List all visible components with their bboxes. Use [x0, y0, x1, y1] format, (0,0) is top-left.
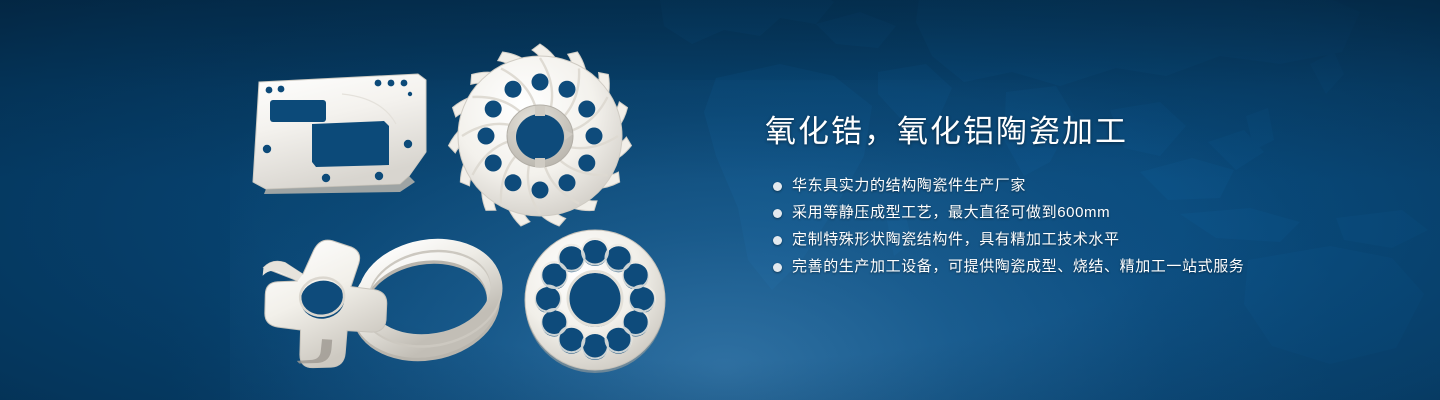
- bullet-dot-icon: [773, 236, 782, 245]
- product-image-ceramic-machined-plate: [250, 72, 435, 197]
- bullet-dot-icon: [773, 182, 782, 191]
- feature-item-label: 完善的生产加工设备，可提供陶瓷成型、烧结、精加工一站式服务: [792, 257, 1244, 277]
- feature-item: 完善的生产加工设备，可提供陶瓷成型、烧结、精加工一站式服务: [765, 257, 1405, 277]
- product-photo-group: [0, 0, 740, 400]
- bullet-dot-icon: [773, 263, 782, 272]
- hero-banner: 氧化锆，氧化铝陶瓷加工 华东具实力的结构陶瓷件生产厂家 采用等静压成型工艺，最大…: [0, 0, 1440, 400]
- feature-item: 采用等静压成型工艺，最大直径可做到600mm: [765, 203, 1405, 223]
- feature-item-label: 采用等静压成型工艺，最大直径可做到600mm: [792, 203, 1110, 223]
- product-image-ceramic-cross-and-rings: [248, 222, 518, 372]
- product-image-ceramic-perforated-disc: [515, 222, 675, 377]
- feature-item-label: 定制特殊形状陶瓷结构件，具有精加工技术水平: [792, 230, 1120, 250]
- banner-copy-block: 氧化锆，氧化铝陶瓷加工 华东具实力的结构陶瓷件生产厂家 采用等静压成型工艺，最大…: [765, 112, 1405, 284]
- feature-item: 定制特殊形状陶瓷结构件，具有精加工技术水平: [765, 230, 1405, 250]
- banner-title: 氧化锆，氧化铝陶瓷加工: [765, 112, 1405, 152]
- bullet-dot-icon: [773, 209, 782, 218]
- feature-item-label: 华东具实力的结构陶瓷件生产厂家: [792, 176, 1026, 196]
- product-image-ceramic-impeller: [440, 40, 640, 230]
- feature-item: 华东具实力的结构陶瓷件生产厂家: [765, 176, 1405, 196]
- feature-list: 华东具实力的结构陶瓷件生产厂家 采用等静压成型工艺，最大直径可做到600mm 定…: [765, 176, 1405, 277]
